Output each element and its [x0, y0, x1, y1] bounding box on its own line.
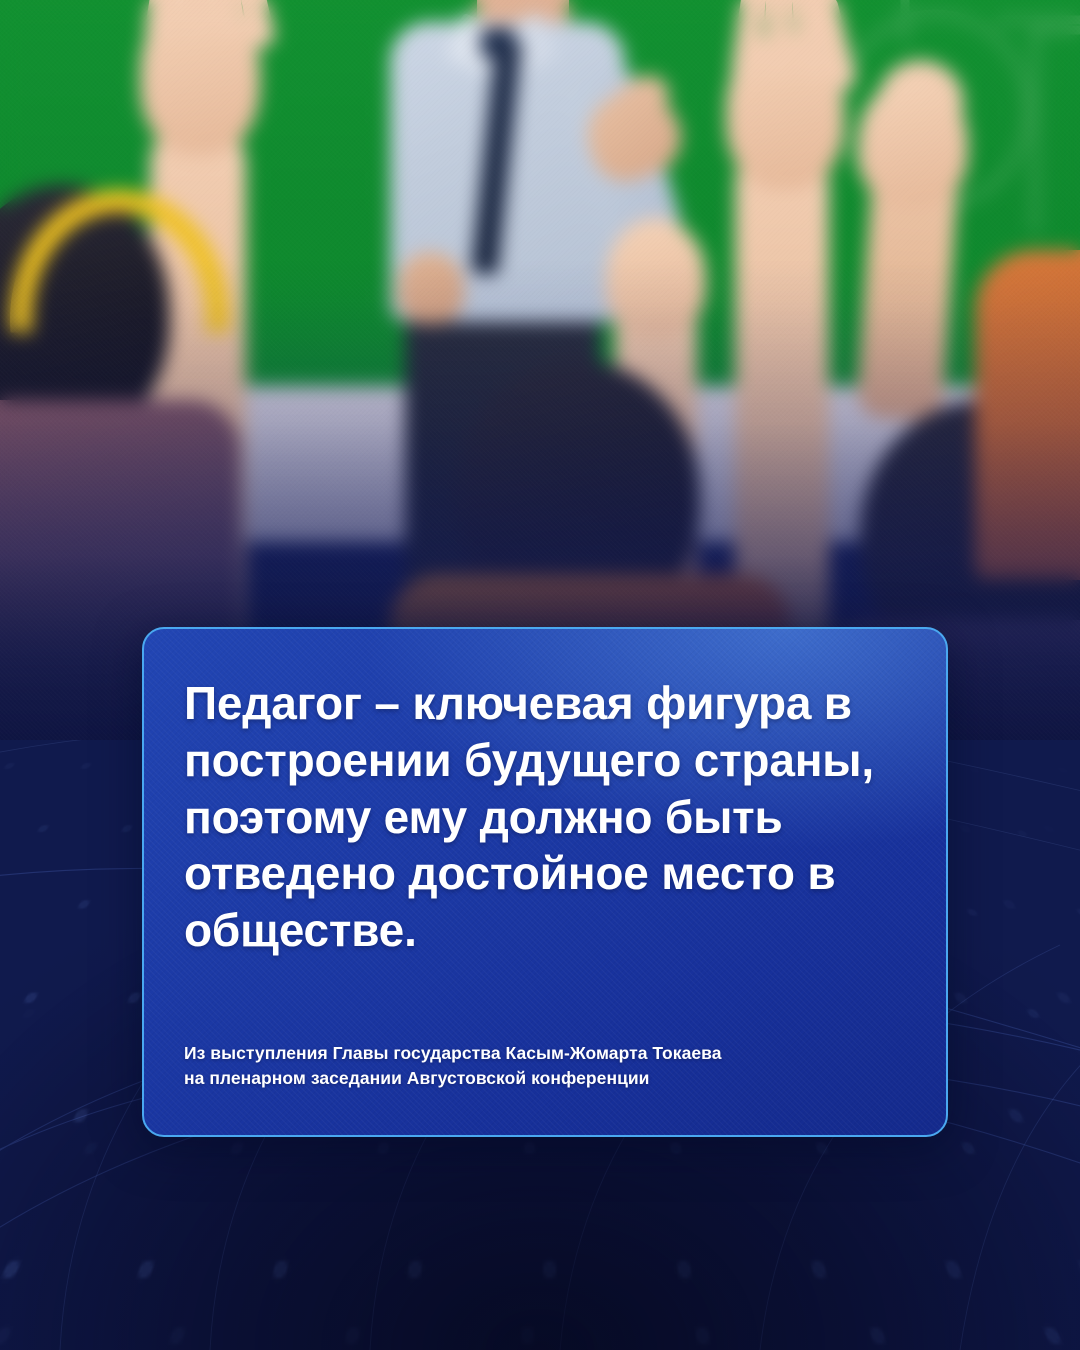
- quote-card: Педагог – ключевая фигура в построении б…: [142, 627, 948, 1137]
- attribution-line-2: на пленарном заседании Августовской конф…: [184, 1068, 650, 1088]
- quote-text: Педагог – ключевая фигура в построении б…: [184, 675, 906, 959]
- attribution: Из выступления Главы государства Касым-Ж…: [184, 1041, 722, 1091]
- poster: Педагог – ключевая фигура в построении б…: [0, 0, 1080, 1350]
- attribution-line-1: Из выступления Главы государства Касым-Ж…: [184, 1043, 722, 1063]
